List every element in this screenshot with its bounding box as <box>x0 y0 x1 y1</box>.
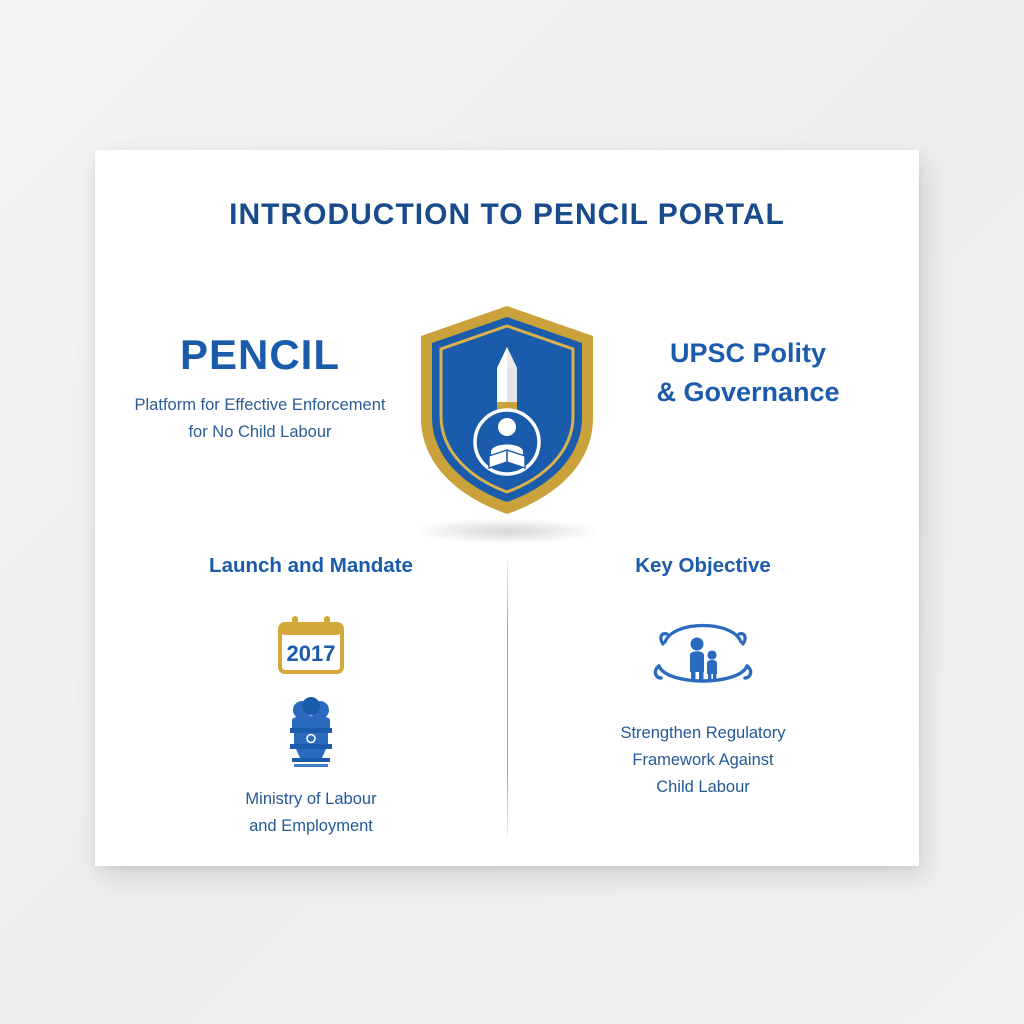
objective-line-2: Framework Against <box>507 747 899 774</box>
topic-block: UPSC Polity & Governance <box>583 334 913 412</box>
page-title: INTRODUCTION TO PENCIL PORTAL <box>95 198 919 232</box>
poster-canvas: INTRODUCTION TO PENCIL PORTAL PENCIL Pla… <box>0 0 1024 1024</box>
ministry-text: Ministry of Labour and Employment <box>115 786 507 840</box>
india-state-emblem-icon <box>280 694 342 772</box>
column-heading-launch: Launch and Mandate <box>115 554 507 578</box>
ministry-line-1: Ministry of Labour <box>115 786 507 813</box>
info-card: INTRODUCTION TO PENCIL PORTAL PENCIL Pla… <box>95 150 919 866</box>
shield-svg <box>407 300 607 520</box>
acronym-block: PENCIL Platform for Effective Enforcemen… <box>95 332 425 445</box>
acronym-expansion: Platform for Effective Enforcement for N… <box>95 392 425 445</box>
calendar-year-label: 2017 <box>287 641 336 666</box>
topic-line-1: UPSC Polity <box>583 334 913 373</box>
objective-line-3: Child Labour <box>507 774 899 801</box>
acronym-word: PENCIL <box>95 332 425 378</box>
objective-line-1: Strengthen Regulatory <box>507 720 899 747</box>
column-launch-and-mandate: Launch and Mandate 2017 <box>115 554 507 840</box>
shield-pencil-child-icon <box>407 300 607 530</box>
column-key-objective: Key Objective <box>507 554 899 801</box>
column-heading-objective: Key Objective <box>507 554 899 578</box>
ministry-line-2: and Employment <box>115 813 507 840</box>
acronym-expansion-line-1: Platform for Effective Enforcement <box>95 392 425 418</box>
objective-text: Strengthen Regulatory Framework Against … <box>507 720 899 801</box>
acronym-expansion-line-2: for No Child Labour <box>95 419 425 445</box>
topic-line-2: & Governance <box>583 373 913 412</box>
shield-shadow <box>412 518 602 544</box>
calendar-icon: 2017 <box>276 614 346 676</box>
hero-section: PENCIL Platform for Effective Enforcemen… <box>95 300 919 530</box>
protecting-hands-child-icon <box>649 608 757 694</box>
